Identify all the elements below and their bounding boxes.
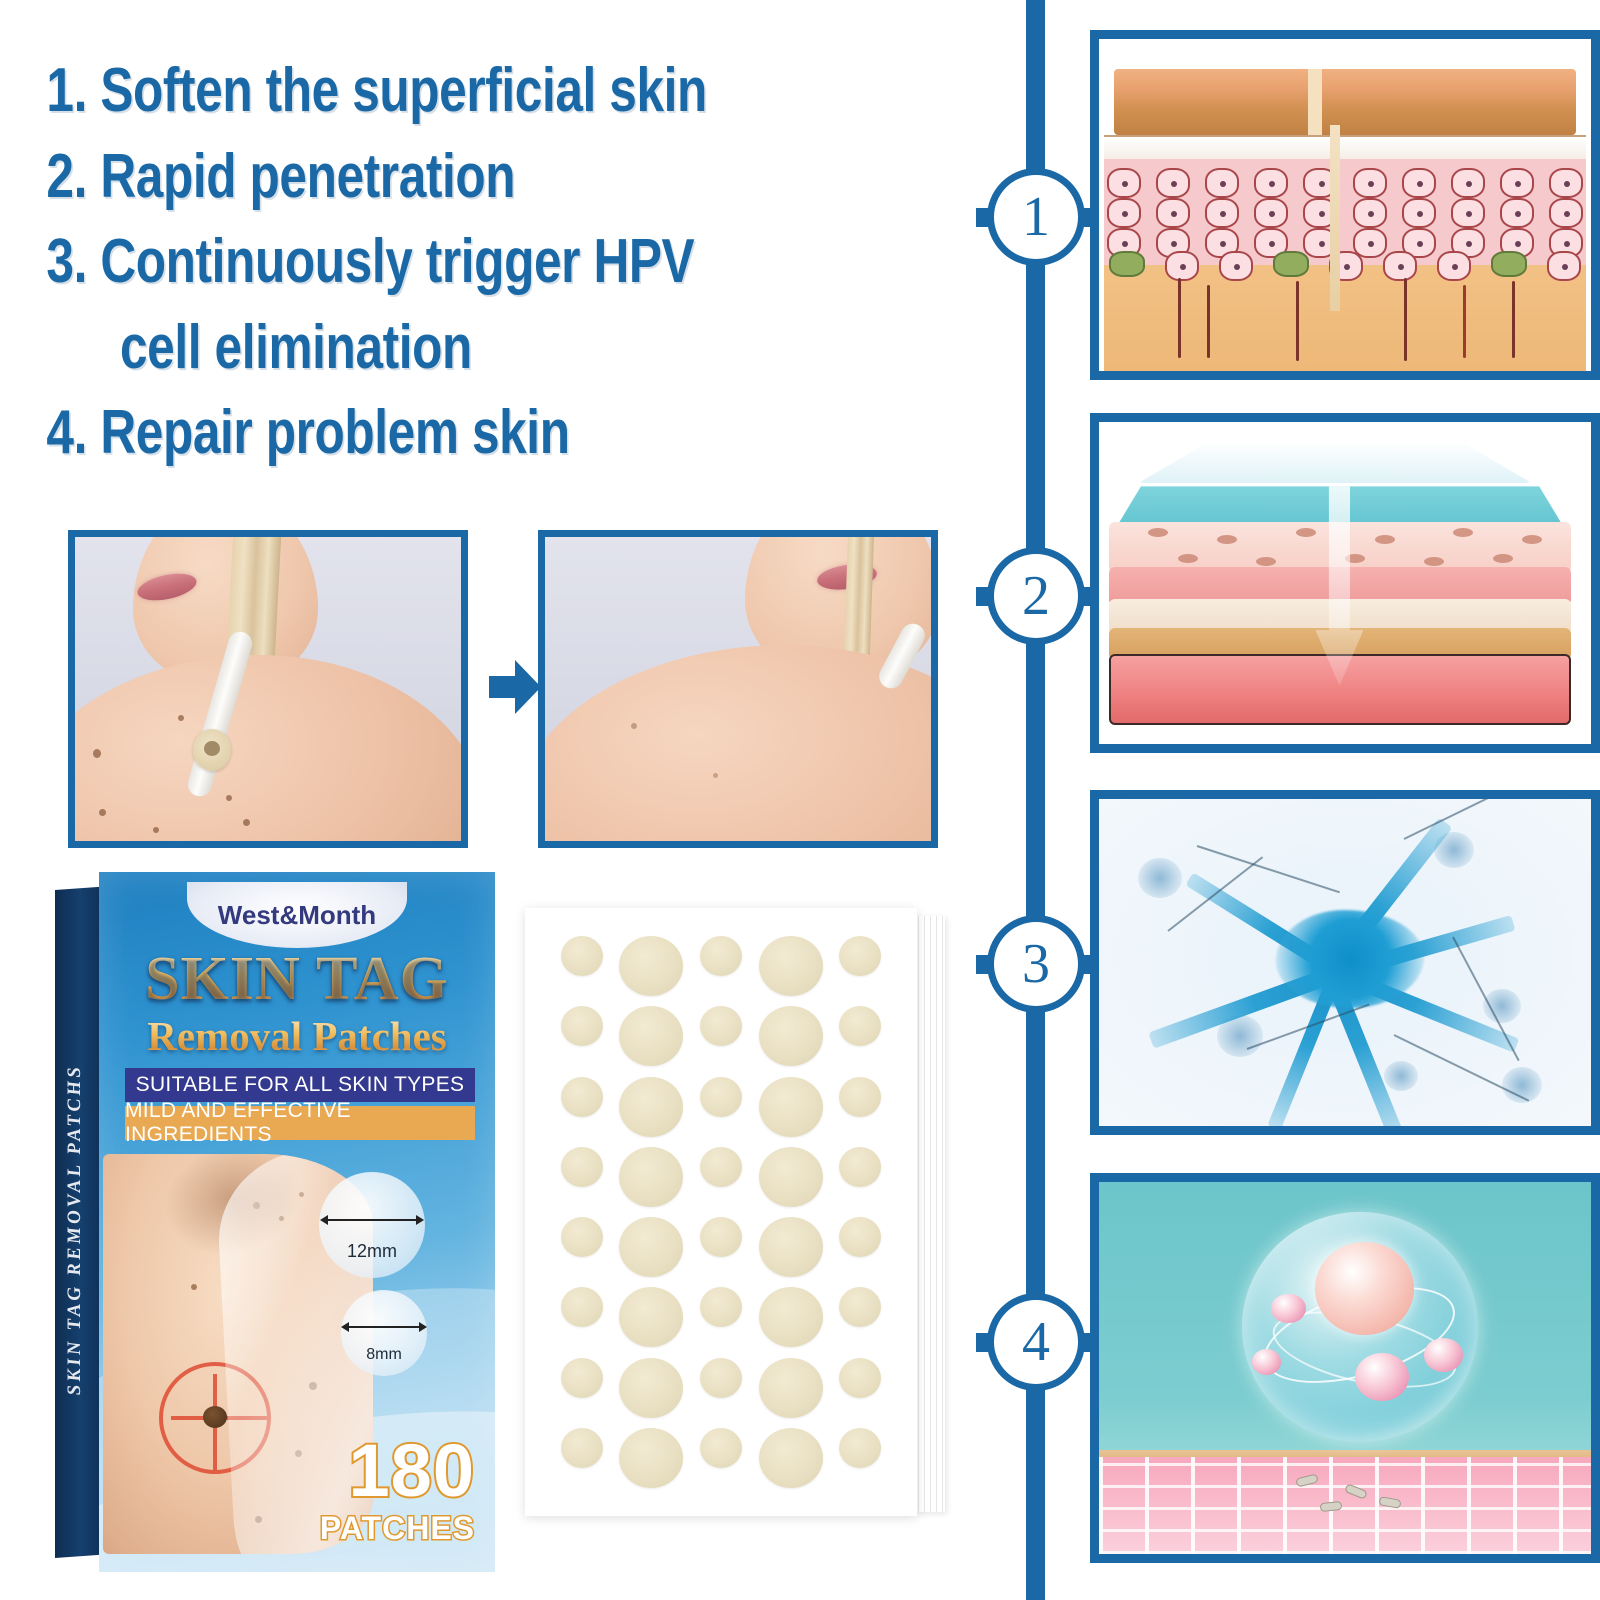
size-label-12mm: 12mm	[347, 1241, 397, 1278]
product-subtitle: Removal Patches	[99, 1012, 495, 1060]
patch-dot	[561, 936, 603, 976]
patch-dot	[839, 1358, 881, 1398]
patch-dot	[759, 1287, 823, 1347]
molecule-bubble-on-skin-diagram	[1090, 1173, 1600, 1563]
claim-banner-ingredients: MILD AND EFFECTIVE INGREDIENTS	[125, 1106, 475, 1140]
before-photo	[68, 530, 468, 848]
patch-dot	[700, 936, 742, 976]
box-spine: SKIN TAG REMOVAL PATCHS	[55, 887, 101, 1558]
product-package-box: SKIN TAG REMOVAL PATCHS West&Month SKIN …	[55, 872, 495, 1572]
skin-tag-marker	[203, 1406, 227, 1428]
patch-count-number: 180	[275, 1428, 475, 1513]
skin-layers-penetration-diagram	[1090, 413, 1600, 753]
right-arrow-icon	[489, 658, 541, 716]
patch-dot	[561, 1428, 603, 1468]
patch-dot	[839, 936, 881, 976]
patch-dot	[839, 1006, 881, 1046]
patch-sheet	[525, 908, 917, 1516]
patch-dot	[561, 1287, 603, 1327]
benefit-item-2: 2. Rapid penetration	[0, 134, 784, 220]
patch-dot	[561, 1147, 603, 1187]
patch-dot	[619, 1006, 683, 1066]
product-title: SKIN TAG	[99, 944, 495, 1015]
after-photo	[538, 530, 938, 848]
neuron-cell-microscopy-image	[1090, 790, 1600, 1135]
skin-cross-section-diagram	[1090, 30, 1600, 380]
patch-dot	[700, 1147, 742, 1187]
size-label-8mm: 8mm	[366, 1346, 402, 1376]
product-infographic-page: 1. Soften the superficial skin 2. Rapid …	[0, 0, 1600, 1600]
timeline-node-2: 2	[987, 547, 1085, 645]
timeline-node-4: 4	[987, 1293, 1085, 1391]
patch-dot	[759, 1147, 823, 1207]
before-after-comparison	[68, 530, 938, 850]
sheet-stack-edge	[913, 916, 945, 1512]
benefits-list: 1. Soften the superficial skin 2. Rapid …	[0, 48, 980, 476]
patch-dot	[561, 1358, 603, 1398]
patch-dot	[700, 1006, 742, 1046]
brand-banner: West&Month	[187, 882, 407, 948]
patch-dot	[839, 1217, 881, 1257]
claim-banner-skin-types: SUITABLE FOR ALL SKIN TYPES	[125, 1068, 475, 1102]
patch-dot	[700, 1287, 742, 1327]
applied-patch-marker	[193, 729, 231, 771]
patch-count-word: PATCHES	[275, 1510, 475, 1547]
patch-dot	[839, 1147, 881, 1187]
patch-dot	[700, 1428, 742, 1468]
patch-dot	[759, 1358, 823, 1418]
benefit-item-3-cont: cell elimination	[0, 305, 784, 391]
patch-dot	[839, 1428, 881, 1468]
timeline-node-1: 1	[987, 168, 1085, 266]
size-indicator-8mm: 8mm	[341, 1290, 427, 1376]
patch-dot	[839, 1077, 881, 1117]
size-indicator-12mm: 12mm	[319, 1172, 425, 1278]
patch-dot	[700, 1217, 742, 1257]
patch-dot	[759, 1428, 823, 1488]
benefit-item-4: 4. Repair problem skin	[0, 390, 784, 476]
patch-dot	[619, 936, 683, 996]
patch-dot	[619, 1358, 683, 1418]
patch-dot	[759, 936, 823, 996]
patch-dot	[700, 1358, 742, 1398]
patch-dot	[561, 1077, 603, 1117]
box-front-face: West&Month SKIN TAG Removal Patches SUIT…	[99, 872, 495, 1572]
patch-sheet-stack	[525, 908, 945, 1518]
patch-dot	[619, 1287, 683, 1347]
patch-dot	[619, 1217, 683, 1277]
benefit-item-1: 1. Soften the superficial skin	[0, 48, 784, 134]
timeline-node-3: 3	[987, 915, 1085, 1013]
benefit-item-3: 3. Continuously trigger HPV	[0, 219, 784, 305]
patch-dot	[759, 1006, 823, 1066]
brand-name: West&Month	[218, 900, 376, 931]
patch-dot	[759, 1077, 823, 1137]
patch-dot	[759, 1217, 823, 1277]
patch-dot	[619, 1147, 683, 1207]
patch-dot	[561, 1217, 603, 1257]
patch-dot	[619, 1428, 683, 1488]
patch-dot	[619, 1077, 683, 1137]
patch-dot	[839, 1287, 881, 1327]
box-spine-text: SKIN TAG REMOVAL PATCHS	[64, 899, 86, 1561]
patch-dot	[700, 1077, 742, 1117]
patch-dot	[561, 1006, 603, 1046]
